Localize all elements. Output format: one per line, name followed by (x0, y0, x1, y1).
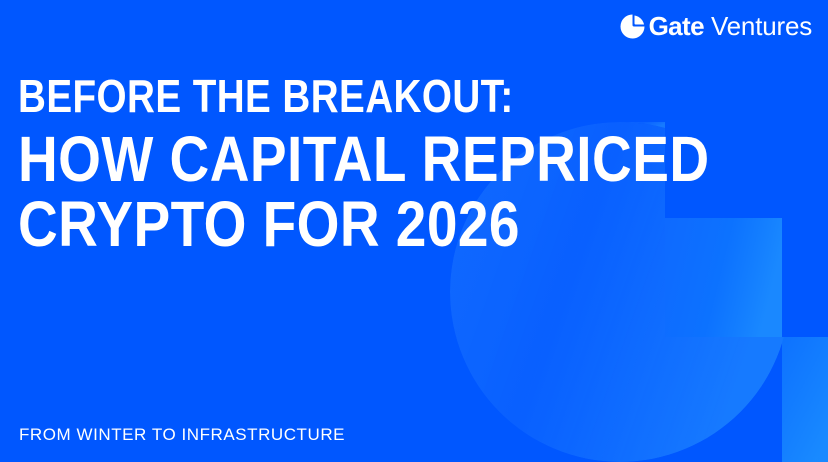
subtitle: FROM WINTER TO INFRASTRUCTURE (19, 425, 345, 445)
brand-name-bold: Gate (649, 13, 704, 39)
headline-line-1: BEFORE THE BREAKOUT: (18, 72, 693, 120)
headline-line-2: HOW CAPITAL REPRICED (18, 127, 710, 191)
brand-name-light: Ventures (711, 13, 812, 39)
gate-circle-notch-icon (620, 14, 645, 39)
watermark-corner-block (782, 337, 828, 462)
slide-canvas: Gate Ventures BEFORE THE BREAKOUT: HOW C… (0, 0, 828, 462)
headline-line-3: CRYPTO FOR 2026 (18, 192, 710, 256)
brand-lockup: Gate Ventures (620, 13, 812, 39)
headline-block: BEFORE THE BREAKOUT: HOW CAPITAL REPRICE… (18, 72, 822, 256)
